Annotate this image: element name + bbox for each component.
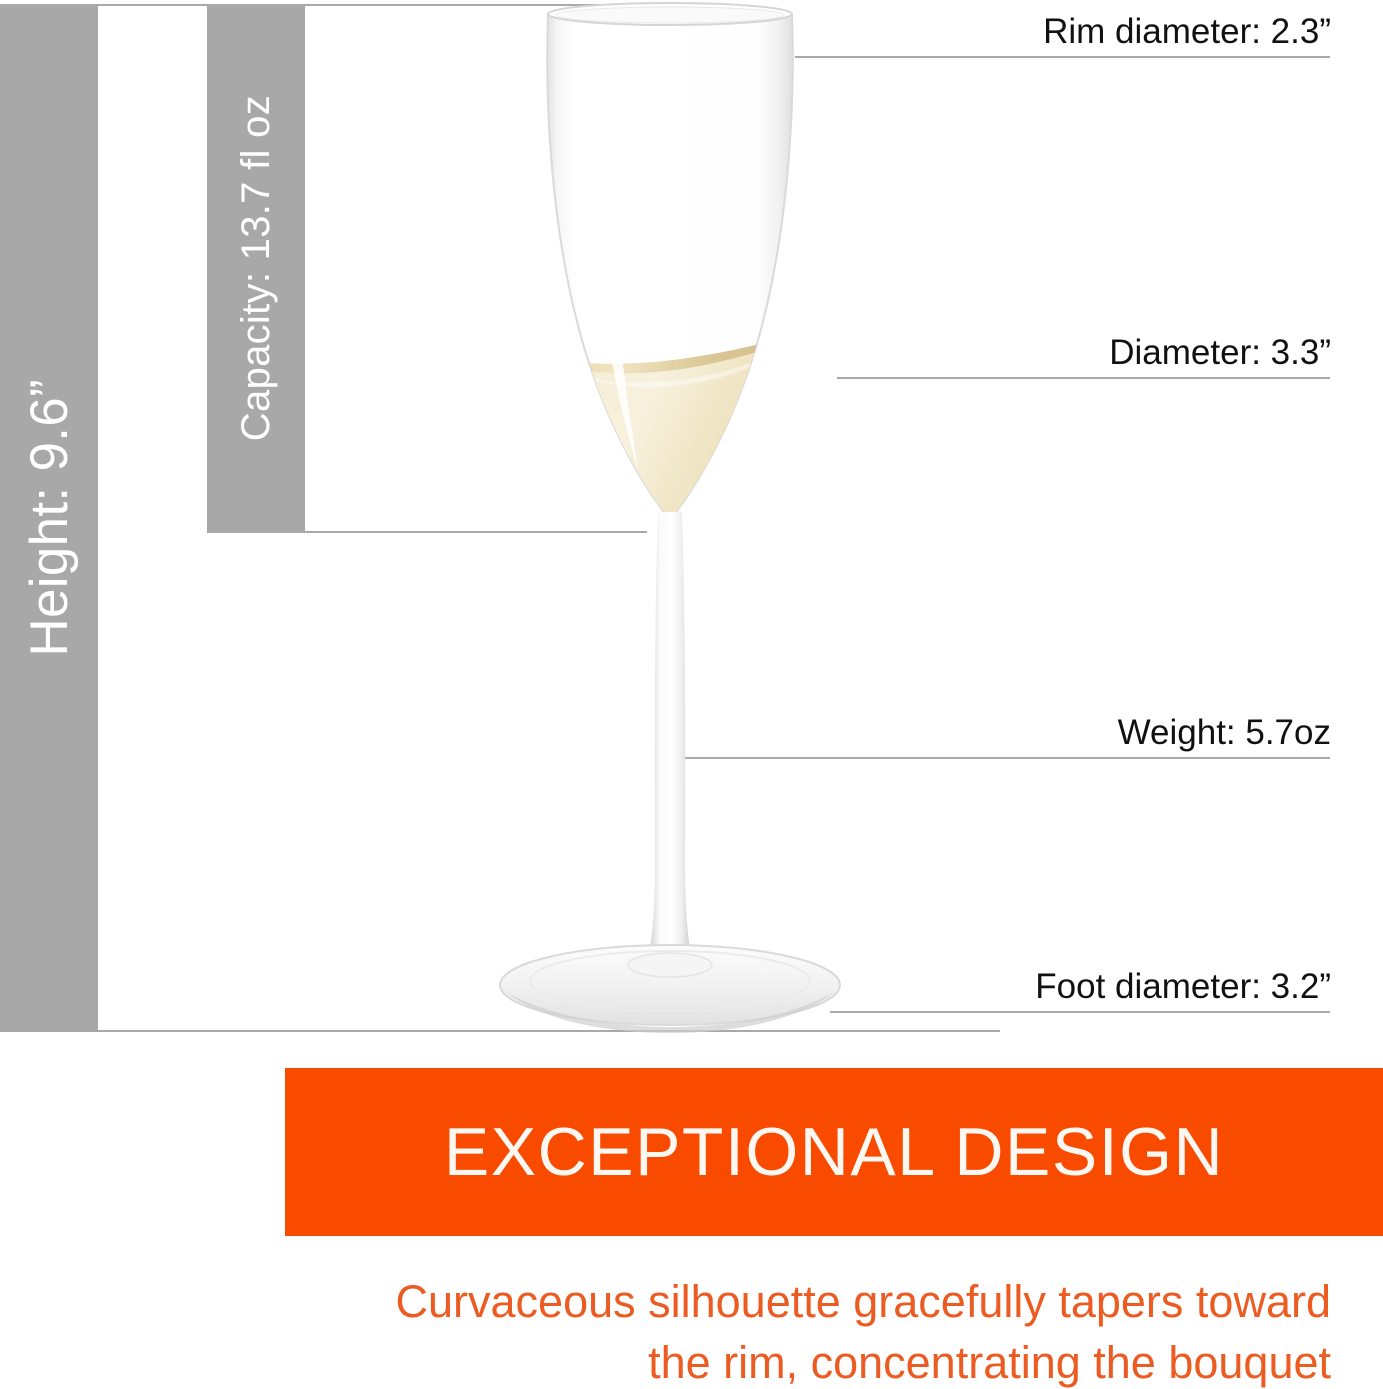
capacity-measurement-bar: Capacity: 13.7 fl oz bbox=[207, 4, 305, 532]
callout-weight-label: Weight: 5.7oz bbox=[1118, 713, 1331, 752]
headline-text: EXCEPTIONAL DESIGN bbox=[444, 1113, 1224, 1191]
foot-diameter-leader-line bbox=[830, 1011, 1330, 1013]
height-measurement-label: Height: 9.6” bbox=[19, 379, 80, 657]
callout-foot-diameter-label: Foot diameter: 3.2” bbox=[1035, 967, 1331, 1006]
caption-line-2: the rim, concentrating the bouquet bbox=[100, 1333, 1331, 1389]
glass-stem bbox=[650, 512, 690, 948]
headline-banner: EXCEPTIONAL DESIGN bbox=[285, 1068, 1383, 1236]
caption-block: Curvaceous silhouette gracefully tapers … bbox=[100, 1272, 1331, 1389]
callout-diameter: Diameter: 3.3” bbox=[1109, 333, 1331, 373]
diameter-leader-line bbox=[837, 377, 1330, 379]
glass-foot-center-punt bbox=[628, 953, 712, 977]
glass-rim-inner bbox=[556, 7, 784, 23]
callout-rim-diameter: Rim diameter: 2.3” bbox=[1043, 12, 1331, 52]
height-measurement-bar: Height: 9.6” bbox=[0, 4, 98, 1031]
capacity-measurement-label: Capacity: 13.7 fl oz bbox=[234, 95, 279, 441]
callout-diameter-label: Diameter: 3.3” bbox=[1109, 333, 1331, 372]
caption-line-1: Curvaceous silhouette gracefully tapers … bbox=[100, 1272, 1331, 1333]
callout-foot-diameter: Foot diameter: 3.2” bbox=[1035, 967, 1331, 1007]
callout-rim-diameter-label: Rim diameter: 2.3” bbox=[1043, 12, 1331, 51]
wine-glass-illustration bbox=[460, 0, 880, 1040]
product-infographic: Height: 9.6” Capacity: 13.7 fl oz bbox=[0, 0, 1383, 1389]
callout-weight: Weight: 5.7oz bbox=[1118, 713, 1331, 753]
